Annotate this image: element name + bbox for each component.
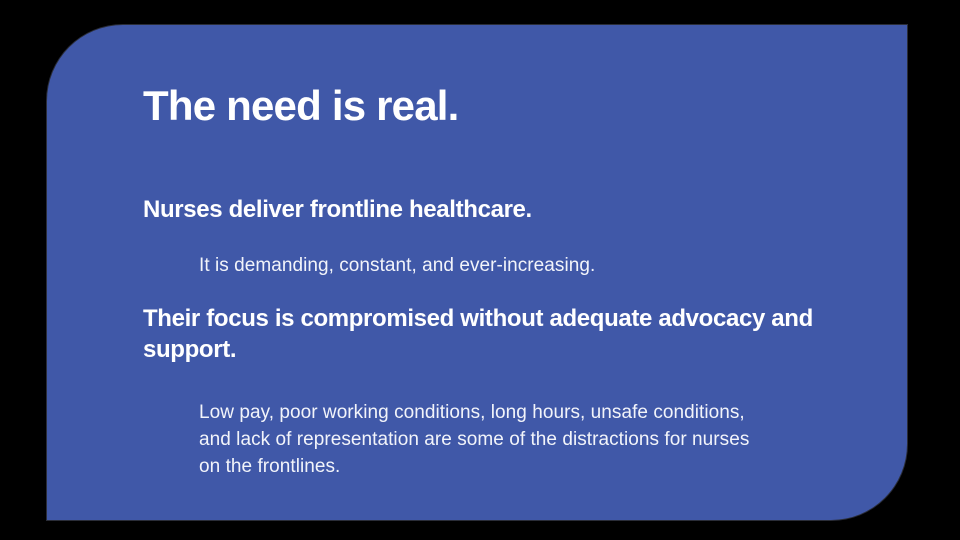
point-block-2: Their focus is compromised without adequ… xyxy=(143,304,855,365)
slide-stage: The need is real. Nurses deliver frontli… xyxy=(0,0,960,540)
slide-body: The need is real. Nurses deliver frontli… xyxy=(143,25,883,520)
slide-content-card: The need is real. Nurses deliver frontli… xyxy=(47,25,907,520)
point-heading-2: Their focus is compromised without adequ… xyxy=(143,304,855,365)
point-detail-2: Low pay, poor working conditions, long h… xyxy=(143,400,753,481)
point-heading-1: Nurses deliver frontline healthcare. xyxy=(143,195,883,226)
point-detail-block-1: It is demanding, constant, and ever-incr… xyxy=(143,253,883,280)
point-block-1: Nurses deliver frontline healthcare. xyxy=(143,195,883,226)
point-detail-1: It is demanding, constant, and ever-incr… xyxy=(143,253,883,280)
page-title: The need is real. xyxy=(143,84,459,128)
point-detail-block-2: Low pay, poor working conditions, long h… xyxy=(143,400,753,481)
